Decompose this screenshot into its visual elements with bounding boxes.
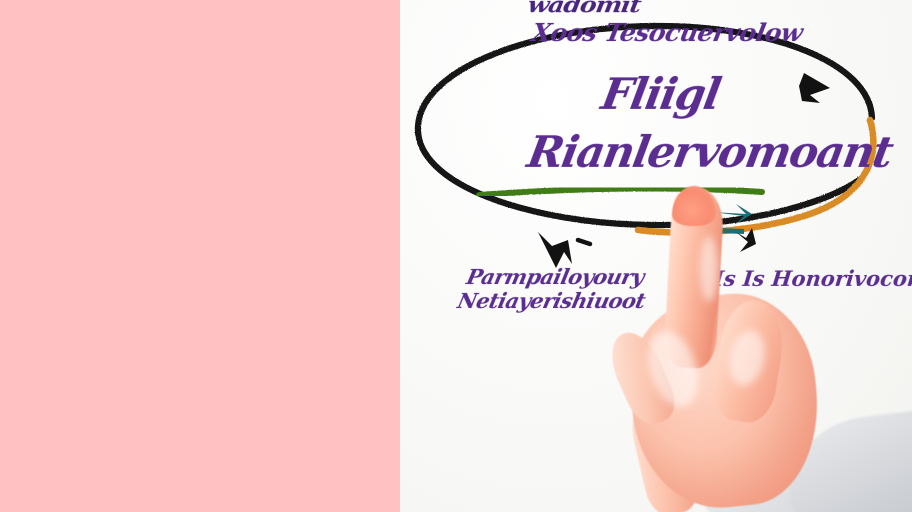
- pointing-hand-photo: [400, 0, 912, 512]
- text-panel-background: [0, 0, 400, 512]
- social-share-card: wadomit Xoos Tesocuervolow Fliigl Rianle…: [0, 0, 912, 512]
- skin-highlight-index: [700, 236, 718, 302]
- illustration-panel: wadomit Xoos Tesocuervolow Fliigl Rianle…: [400, 0, 912, 512]
